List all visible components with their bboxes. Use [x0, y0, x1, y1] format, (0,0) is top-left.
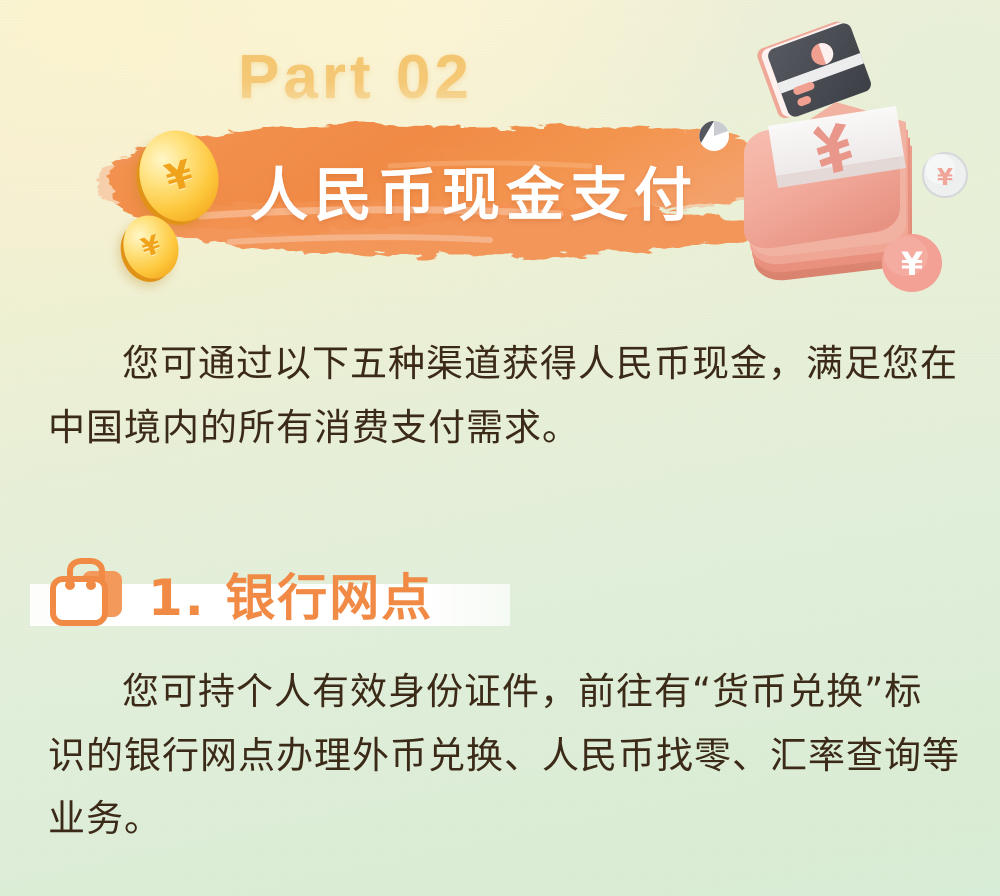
gold-coin-small-symbol: ¥	[138, 230, 164, 264]
small-sphere	[699, 121, 729, 151]
pink-coin-icon: ¥	[882, 234, 942, 292]
money-illustration: ¥ ¥	[690, 18, 1000, 318]
section-heading-bank-branch: 1. 银行网点	[48, 548, 433, 640]
banner-title: 人民币现金支付	[250, 148, 698, 232]
section-paragraph: 您可持个人有效身份证件，前往有“货币兑换”标识的银行网点办理外币兑换、人民币找零…	[48, 660, 960, 851]
infographic-page: Part 02	[0, 0, 1000, 896]
bank-card	[755, 18, 873, 122]
intro-paragraph: 您可通过以下五种渠道获得人民币现金，满足您在中国境内的所有消费支付需求。	[48, 332, 960, 459]
svg-text:¥: ¥	[901, 245, 923, 283]
part-label: Part 02	[238, 42, 473, 113]
svg-text:¥: ¥	[937, 165, 953, 191]
section-heading-text: 1. 银行网点	[148, 558, 433, 630]
gold-coin-symbol: ¥	[160, 151, 198, 201]
white-coin-icon: ¥	[923, 153, 967, 197]
briefcase-bag-icon	[48, 557, 126, 631]
